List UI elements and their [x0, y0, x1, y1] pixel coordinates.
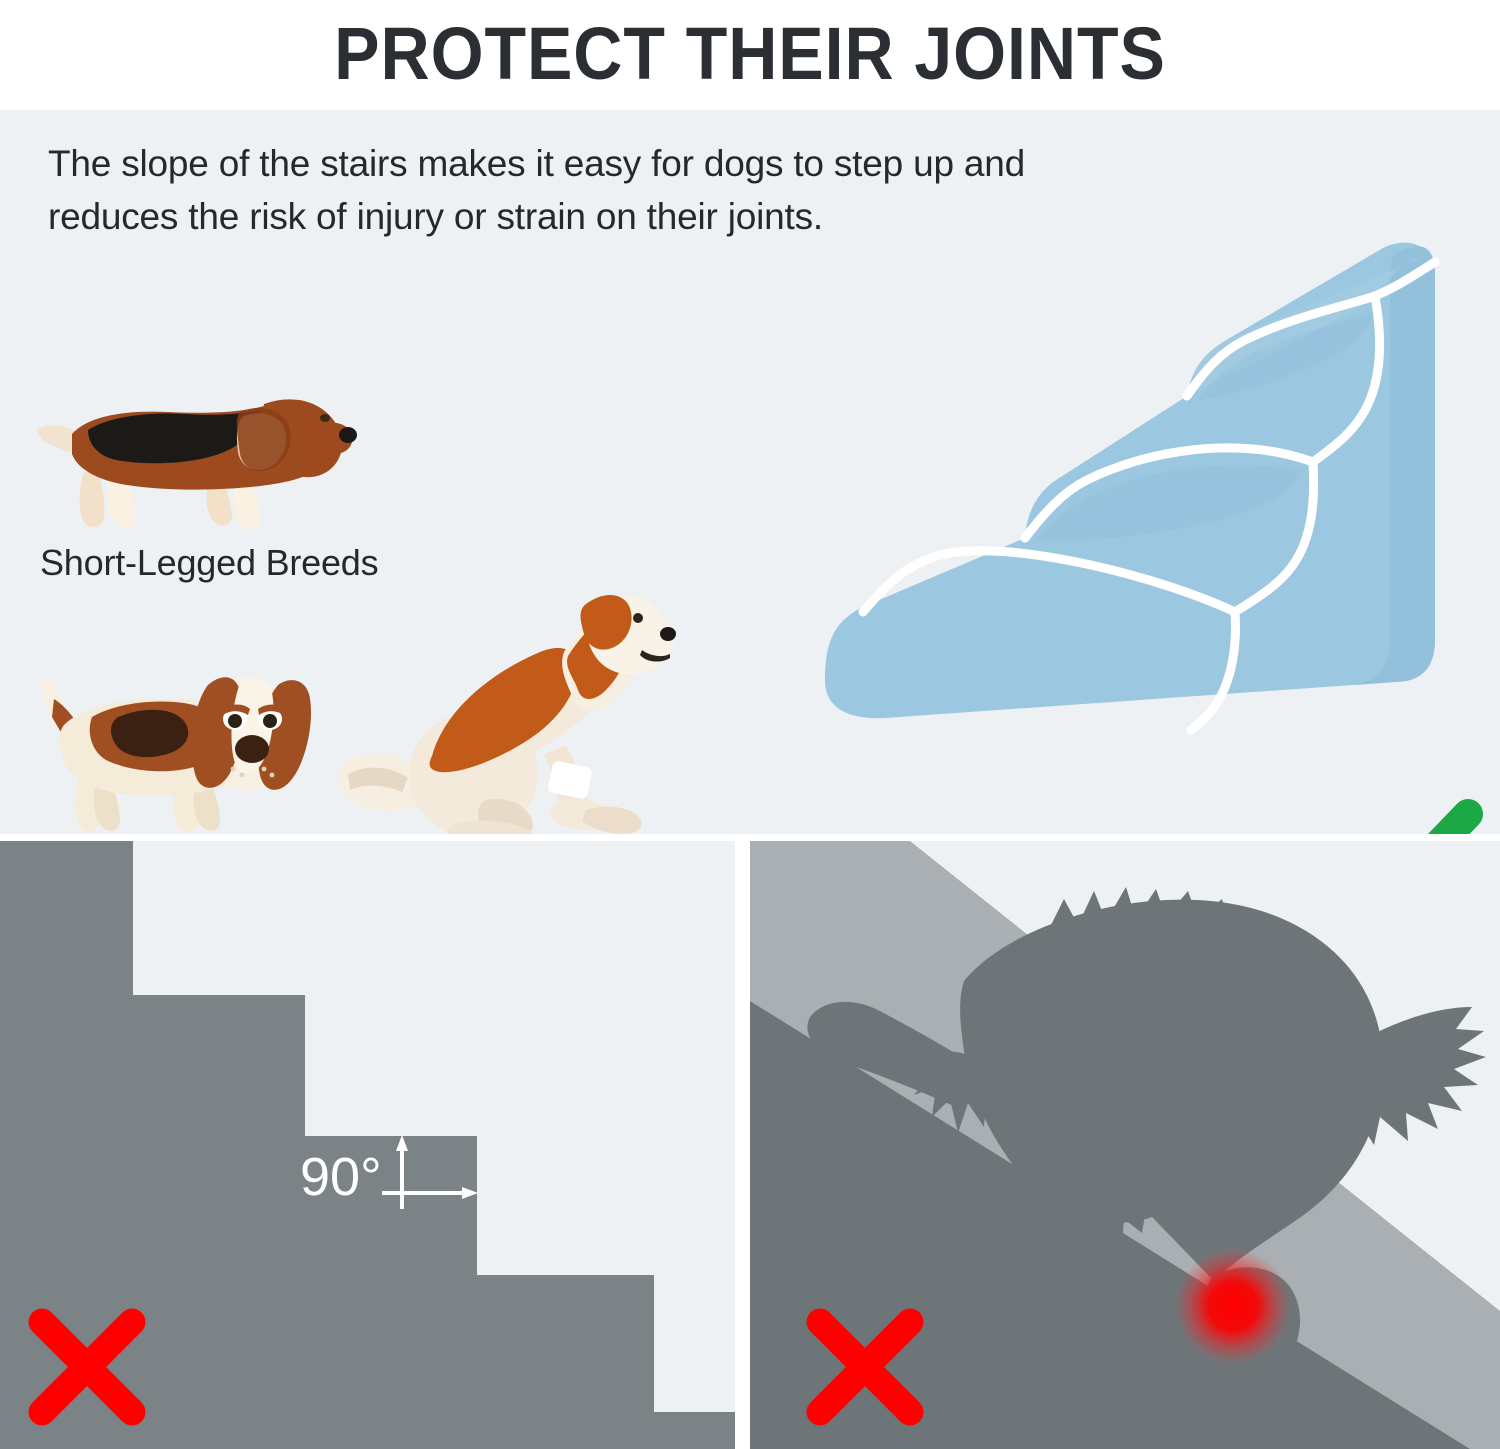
joint-pain-marker [1175, 1248, 1291, 1364]
infographic-page: PROTECT THEIR JOINTS The slope of the st… [0, 0, 1500, 1449]
cross-icon-right [800, 1302, 930, 1432]
title-bar: PROTECT THEIR JOINTS [0, 0, 1500, 108]
check-icon [1300, 798, 1490, 834]
top-panel: The slope of the stairs makes it easy fo… [0, 110, 1500, 834]
cross-icon-left [22, 1302, 152, 1432]
bandaged-sitting-dog-icon [336, 578, 676, 834]
angle-label-90-degrees: 90° [300, 1146, 382, 1208]
caption-short-legged-breeds: Short-Legged Breeds [40, 542, 378, 584]
dachshund-basset-dog-icon [28, 372, 358, 542]
blue-foam-pet-stairs-icon [735, 120, 1500, 760]
senior-basset-hound-icon [30, 665, 320, 834]
page-title: PROTECT THEIR JOINTS [334, 17, 1166, 91]
